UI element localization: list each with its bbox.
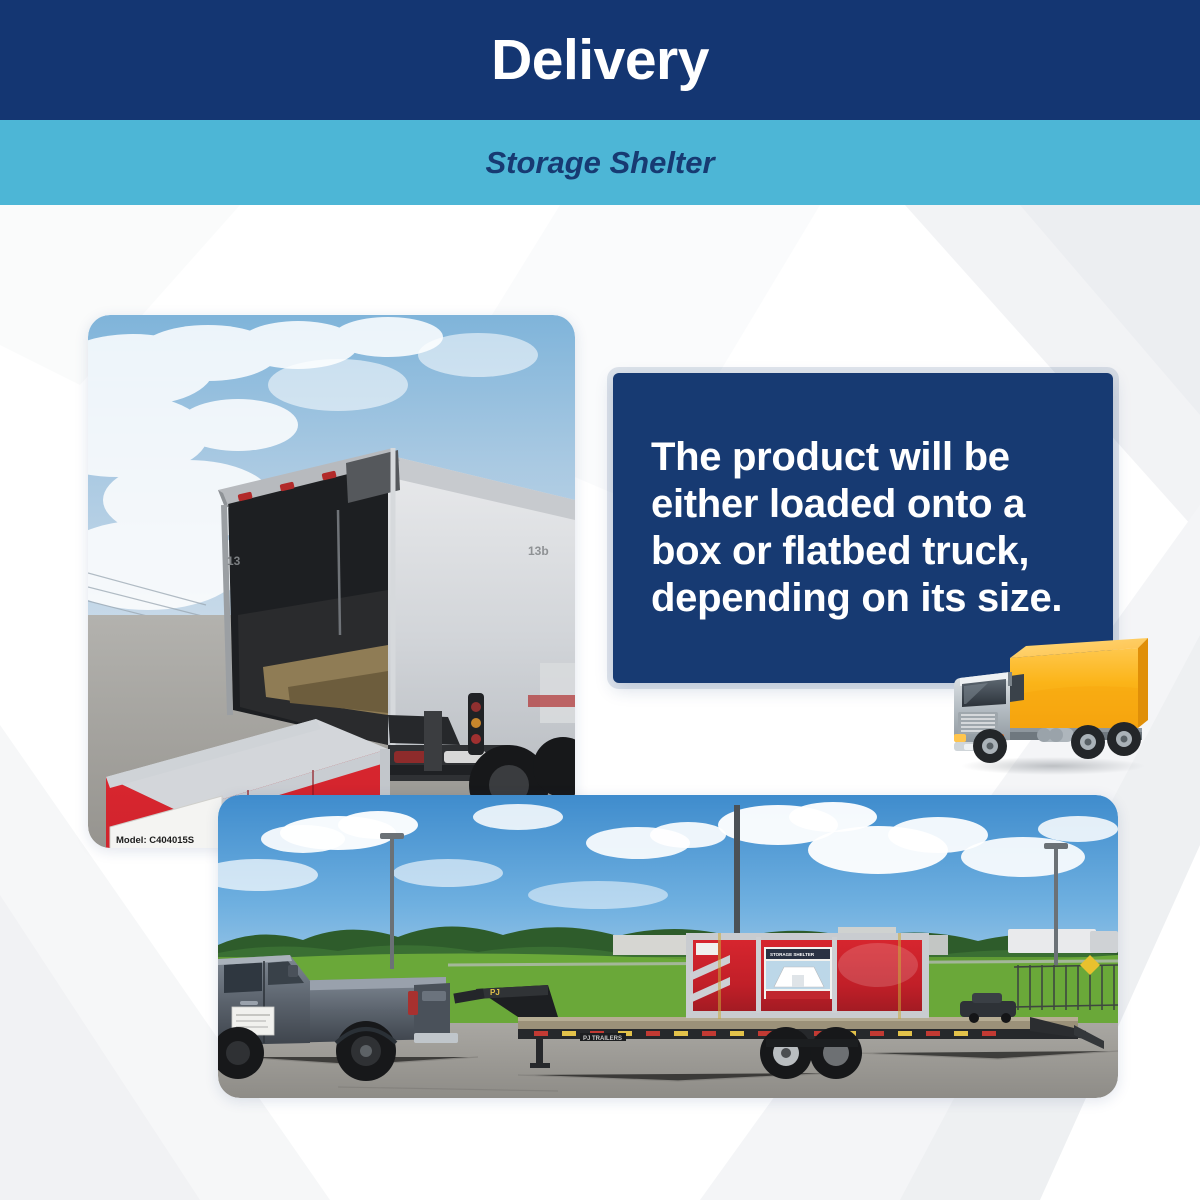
svg-text:13b: 13b xyxy=(528,544,549,558)
svg-text:STORAGE SHELTER: STORAGE SHELTER xyxy=(770,952,815,957)
subtitle-band: Storage Shelter xyxy=(0,120,1200,205)
svg-text:13: 13 xyxy=(227,554,241,568)
page-subtitle: Storage Shelter xyxy=(485,147,714,178)
photo-flatbed-trailer: PJ TRAILERS PJ xyxy=(218,795,1118,1098)
crate-label-model: Model: C404015S xyxy=(116,835,194,846)
page-title: Delivery xyxy=(491,32,709,89)
callout-text: The product will be either loaded onto a… xyxy=(613,434,1113,623)
svg-text:PJ: PJ xyxy=(490,988,500,997)
delivery-truck-icon xyxy=(948,636,1153,776)
trailer-brand: PJ TRAILERS xyxy=(583,1036,622,1042)
title-band: Delivery xyxy=(0,0,1200,120)
photo-box-truck-loading: 13 13b xyxy=(88,315,575,848)
slide-root: Delivery Storage Shelter xyxy=(0,0,1200,1200)
